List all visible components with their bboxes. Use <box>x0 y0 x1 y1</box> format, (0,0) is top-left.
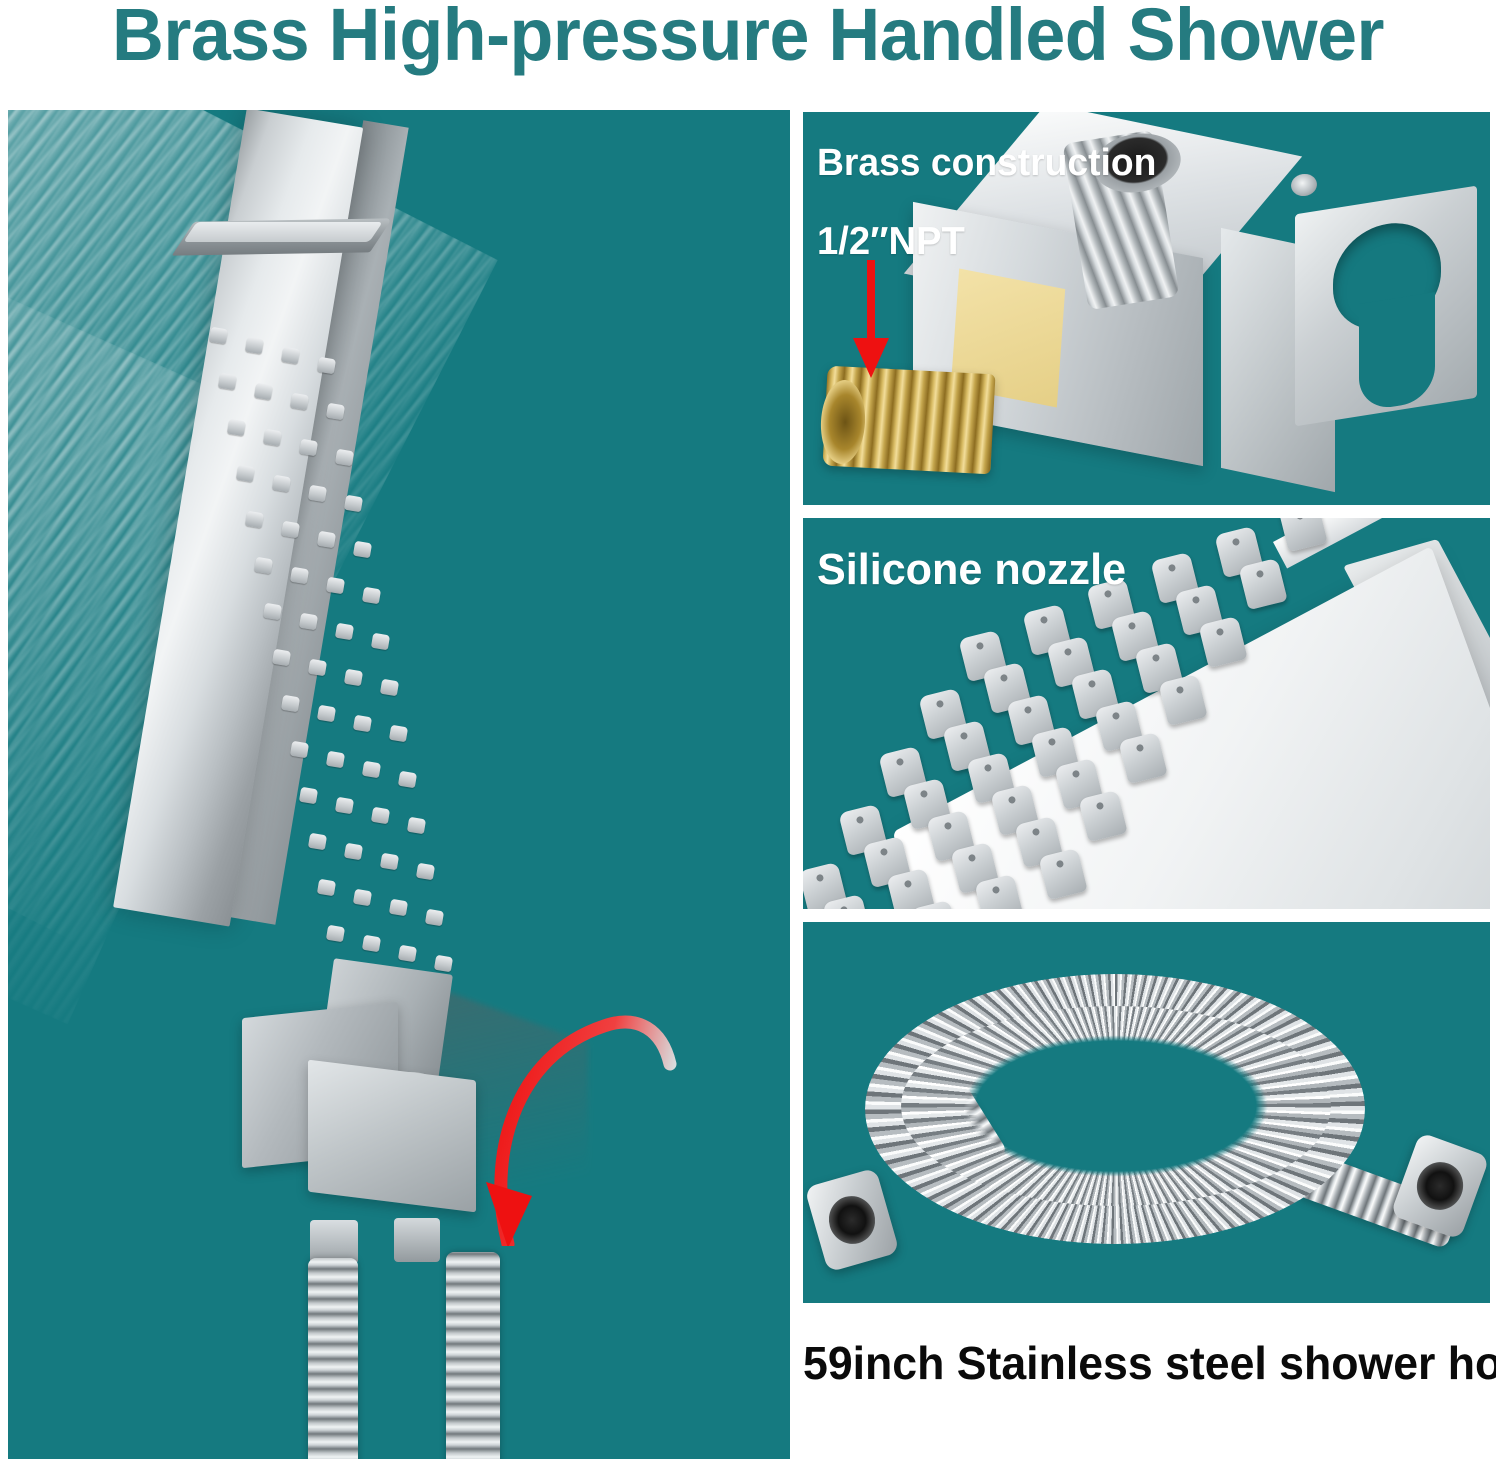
wand-nozzle <box>308 659 327 677</box>
silicone-nozzle <box>1198 616 1247 668</box>
wand-nozzle <box>317 531 336 549</box>
wand-nozzle <box>362 935 381 953</box>
wand-nozzle <box>380 679 399 697</box>
wand-top-cap-highlight <box>183 222 382 242</box>
wand-nozzle <box>236 465 255 483</box>
down-arrow-icon <box>847 258 895 380</box>
wand-nozzle <box>344 669 363 687</box>
silicone-nozzle <box>1238 558 1287 610</box>
wand-nozzle <box>290 741 309 759</box>
wand-nozzle <box>317 879 336 897</box>
wand-nozzle <box>290 393 309 411</box>
shower-hose-strand-right <box>446 1252 500 1459</box>
wand-nozzle <box>308 485 327 503</box>
wand-nozzle <box>299 613 318 631</box>
wand-nozzle <box>245 511 264 529</box>
panel-shower-hose <box>803 922 1490 1303</box>
shower-hose-strand-left <box>308 1258 358 1459</box>
wand-nozzle <box>389 725 408 743</box>
caption-brass-construction: Brass construction <box>817 142 1156 185</box>
wand-nozzle <box>263 429 282 447</box>
wand-nozzle <box>326 751 345 769</box>
caption-silicone-nozzle: Silicone nozzle <box>817 545 1126 595</box>
shower-wand-illustration <box>8 110 790 1459</box>
page-title: Brass High-pressure Handled Shower <box>22 0 1473 114</box>
wand-nozzle <box>353 541 372 559</box>
wand-nozzle <box>299 439 318 457</box>
wand-nozzle <box>344 495 363 513</box>
wand-nozzle <box>425 909 444 927</box>
wand-nozzle <box>281 521 300 539</box>
wand-nozzle <box>254 383 273 401</box>
wand-nozzle <box>371 633 390 651</box>
wand-nozzle <box>380 853 399 871</box>
wand-nozzle <box>281 347 300 365</box>
wand-nozzle <box>209 327 228 345</box>
wand-nozzle <box>416 863 435 881</box>
wand-nozzle <box>281 695 300 713</box>
hose-coil-inner <box>901 1006 1331 1206</box>
caption-hose-length: 59inch Stainless steel shower hose <box>803 1337 1477 1389</box>
wand-nozzle <box>299 787 318 805</box>
wand-nozzle <box>353 889 372 907</box>
wand-nozzle <box>254 557 273 575</box>
wand-nozzle <box>398 945 417 963</box>
wand-nozzle <box>362 761 381 779</box>
wand-nozzle <box>218 373 237 391</box>
wand-nozzle <box>326 577 345 595</box>
wand-nozzle <box>344 843 363 861</box>
wand-nozzle <box>326 925 345 943</box>
wand-nozzle <box>362 587 381 605</box>
bracket-front-plate <box>308 1060 476 1213</box>
wand-nozzle <box>227 419 246 437</box>
wand-nozzle <box>398 771 417 789</box>
wand-nozzle <box>335 623 354 641</box>
wand-nozzle <box>308 833 327 851</box>
wand-nozzle <box>317 705 336 723</box>
wand-nozzle <box>335 797 354 815</box>
wand-nozzle <box>371 807 390 825</box>
hose-connector-nut-left <box>804 1168 899 1273</box>
set-screw-icon <box>1289 172 1318 198</box>
wand-nozzle <box>272 475 291 493</box>
panel-silicone-nozzle: Silicone nozzle <box>803 518 1490 909</box>
panel-handheld-shower <box>8 110 790 1459</box>
hose-collar-right <box>394 1218 440 1262</box>
wand-nozzle <box>317 357 336 375</box>
wand-nozzle <box>290 567 309 585</box>
wand-nozzle <box>353 715 372 733</box>
wand-nozzle <box>326 403 345 421</box>
wand-nozzle <box>263 603 282 621</box>
wand-nozzle <box>245 337 264 355</box>
wand-nozzle <box>389 899 408 917</box>
wand-nozzle <box>434 955 453 973</box>
wand-nozzle <box>272 649 291 667</box>
wand-nozzle <box>335 449 354 467</box>
caption-npt-size: 1/2″NPT <box>817 220 965 264</box>
wand-nozzle <box>407 817 426 835</box>
panel-brass-construction: Brass construction 1/2″NPT <box>803 112 1490 505</box>
